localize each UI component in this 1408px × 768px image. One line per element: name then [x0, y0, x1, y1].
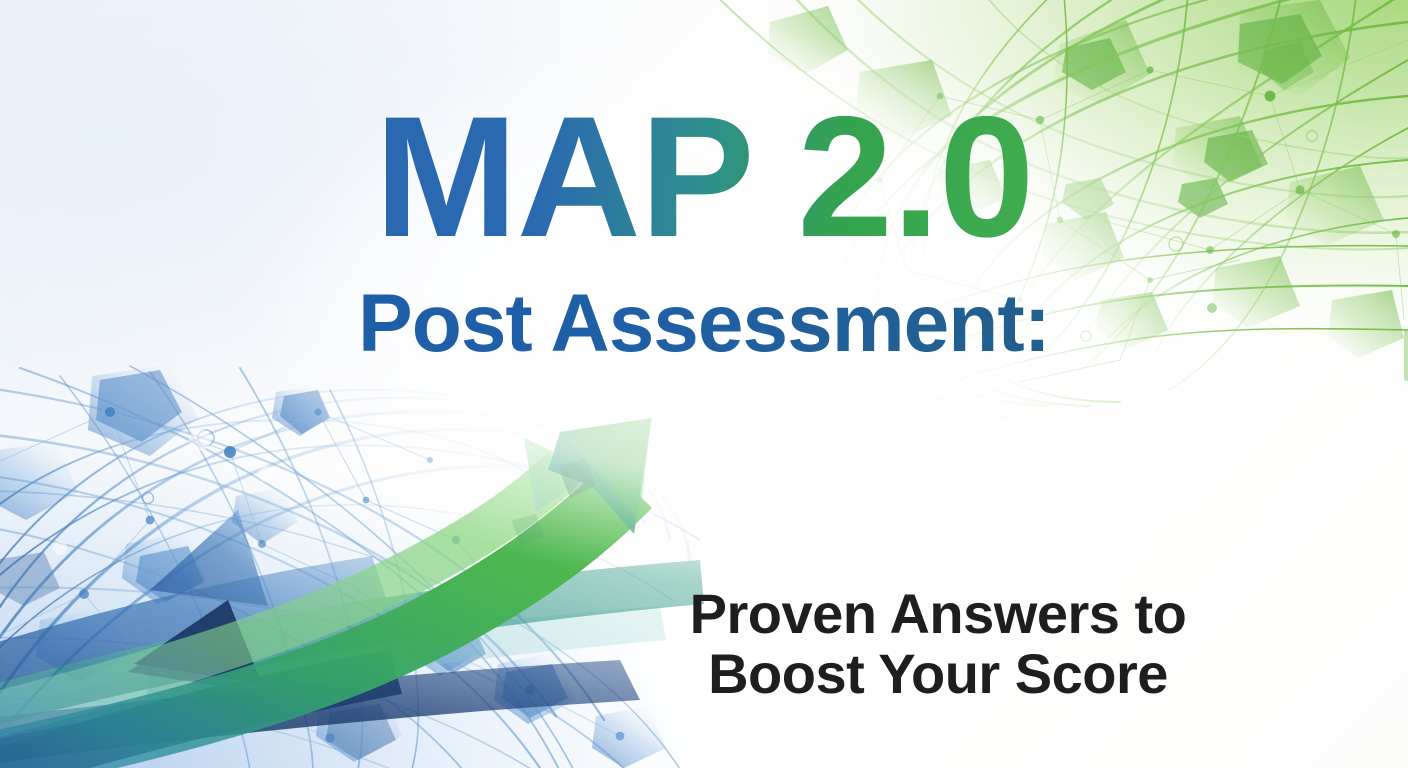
steel-blue-arrow	[0, 510, 386, 700]
navy-ribbon-arrow	[0, 660, 640, 768]
page-title: MAP 2.0	[0, 96, 1408, 259]
headline-block: MAP 2.0 Post Assessment:	[0, 96, 1408, 365]
main-green-arrow	[0, 418, 652, 768]
secondary-green-arrow	[0, 438, 596, 742]
tagline-line-2: Boost Your Score	[640, 644, 1236, 704]
tagline-line-1: Proven Answers to	[640, 584, 1236, 644]
slide-canvas: MAP 2.0 Post Assessment: Proven Answers …	[0, 0, 1408, 768]
page-subtitle: Post Assessment:	[0, 283, 1408, 365]
teal-ribbon-arrow	[0, 560, 704, 740]
tagline-block: Proven Answers to Boost Your Score	[640, 584, 1236, 704]
navy-arrow-head-group	[0, 600, 402, 768]
pale-teal-ribbon	[0, 606, 666, 752]
